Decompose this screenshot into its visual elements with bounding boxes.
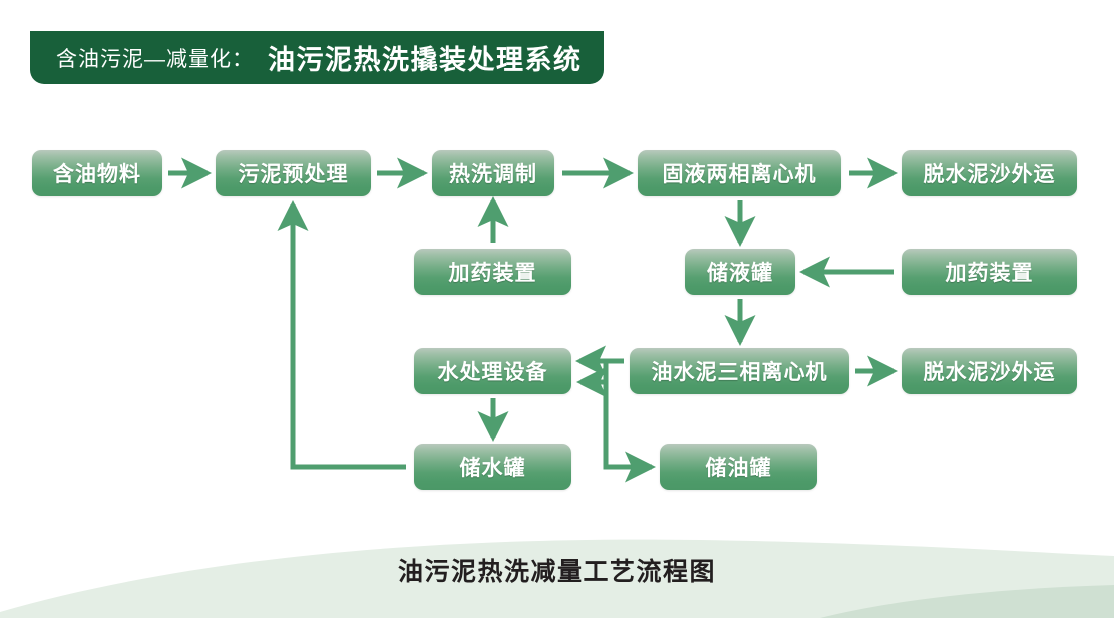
banner-subtitle: 含油污泥—减量化： (56, 43, 254, 73)
process-node-centrifuge3[interactable]: 油水泥三相离心机 (630, 348, 849, 394)
process-node-sand-out-1[interactable]: 脱水泥沙外运 (902, 150, 1077, 196)
process-node-water-treat[interactable]: 水处理设备 (414, 348, 571, 394)
process-node-dosing-1[interactable]: 加药装置 (414, 249, 571, 295)
connector-layer (0, 0, 1114, 618)
process-node-oil-tank[interactable]: 储油罐 (660, 444, 817, 490)
bottom-wave-decoration (0, 0, 1114, 618)
banner-title: 油污泥热洗撬装处理系统 (268, 38, 582, 77)
process-node-pretreat[interactable]: 污泥预处理 (216, 150, 371, 196)
process-node-centrifuge2[interactable]: 固液两相离心机 (638, 150, 841, 196)
flowchart-canvas: 含油污泥—减量化： 油污泥热洗撬装处理系统 (0, 0, 1114, 618)
title-banner: 含油污泥—减量化： 油污泥热洗撬装处理系统 (30, 31, 604, 84)
arrow-branch-to-oiltank (606, 382, 652, 467)
arrow-watertank-recycle-loop (293, 204, 406, 467)
process-node-dosing-2[interactable]: 加药装置 (902, 249, 1077, 295)
process-node-sand-out-2[interactable]: 脱水泥沙外运 (902, 348, 1077, 394)
process-node-liquid-tank[interactable]: 储液罐 (685, 249, 795, 295)
figure-caption: 油污泥热洗减量工艺流程图 (0, 552, 1114, 588)
process-node-feed[interactable]: 含油物料 (32, 150, 162, 196)
process-node-hotwash[interactable]: 热洗调制 (432, 150, 554, 196)
arrow-branch-to-watertreat (580, 361, 606, 382)
wave-shape-dark (820, 585, 1114, 618)
process-node-water-tank[interactable]: 储水罐 (414, 444, 571, 490)
